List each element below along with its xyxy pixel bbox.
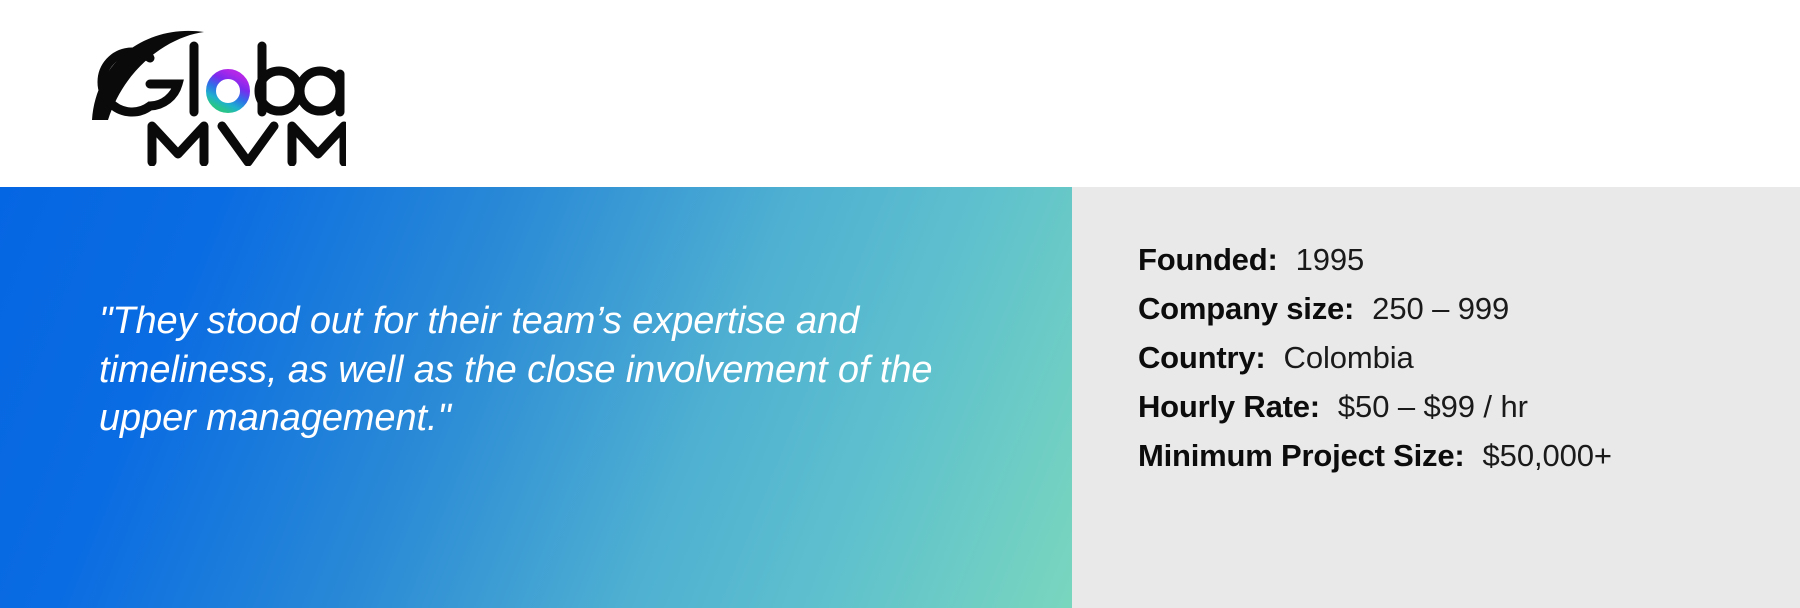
info-value-company-size: 250 – 999 xyxy=(1372,291,1509,327)
letter-v xyxy=(222,126,274,162)
info-label-minimum-project-size: Minimum Project Size: xyxy=(1138,438,1465,474)
info-row-founded: Founded: 1995 xyxy=(1138,242,1612,291)
info-label-founded: Founded: xyxy=(1138,242,1278,278)
letter-m1 xyxy=(152,126,204,162)
gradient-ring-icon xyxy=(211,74,245,108)
client-quote: "They stood out for their team’s experti… xyxy=(99,297,999,443)
info-row-hourly-rate: Hourly Rate: $50 – $99 / hr xyxy=(1138,389,1612,438)
info-value-founded: 1995 xyxy=(1296,242,1365,278)
header-bar xyxy=(0,0,1800,187)
logo-mark xyxy=(86,16,346,166)
company-info-list: Founded: 1995 Company size: 250 – 999 Co… xyxy=(1138,242,1612,487)
info-row-country: Country: Colombia xyxy=(1138,340,1612,389)
info-row-company-size: Company size: 250 – 999 xyxy=(1138,291,1612,340)
info-value-hourly-rate: $50 – $99 / hr xyxy=(1338,389,1528,425)
content-band: "They stood out for their team’s experti… xyxy=(0,187,1800,608)
info-label-company-size: Company size: xyxy=(1138,291,1354,327)
info-label-country: Country: xyxy=(1138,340,1266,376)
letter-m2 xyxy=(292,126,344,162)
brand-logo[interactable] xyxy=(86,16,346,166)
company-info-panel: Founded: 1995 Company size: 250 – 999 Co… xyxy=(1072,187,1800,608)
info-row-minimum-project-size: Minimum Project Size: $50,000+ xyxy=(1138,438,1612,487)
info-label-hourly-rate: Hourly Rate: xyxy=(1138,389,1320,425)
quote-panel: "They stood out for their team’s experti… xyxy=(0,187,1072,608)
info-value-country: Colombia xyxy=(1284,340,1414,376)
letter-a-bowl xyxy=(300,71,340,111)
info-value-minimum-project-size: $50,000+ xyxy=(1483,438,1612,474)
company-profile-card: "They stood out for their team’s experti… xyxy=(0,0,1800,608)
